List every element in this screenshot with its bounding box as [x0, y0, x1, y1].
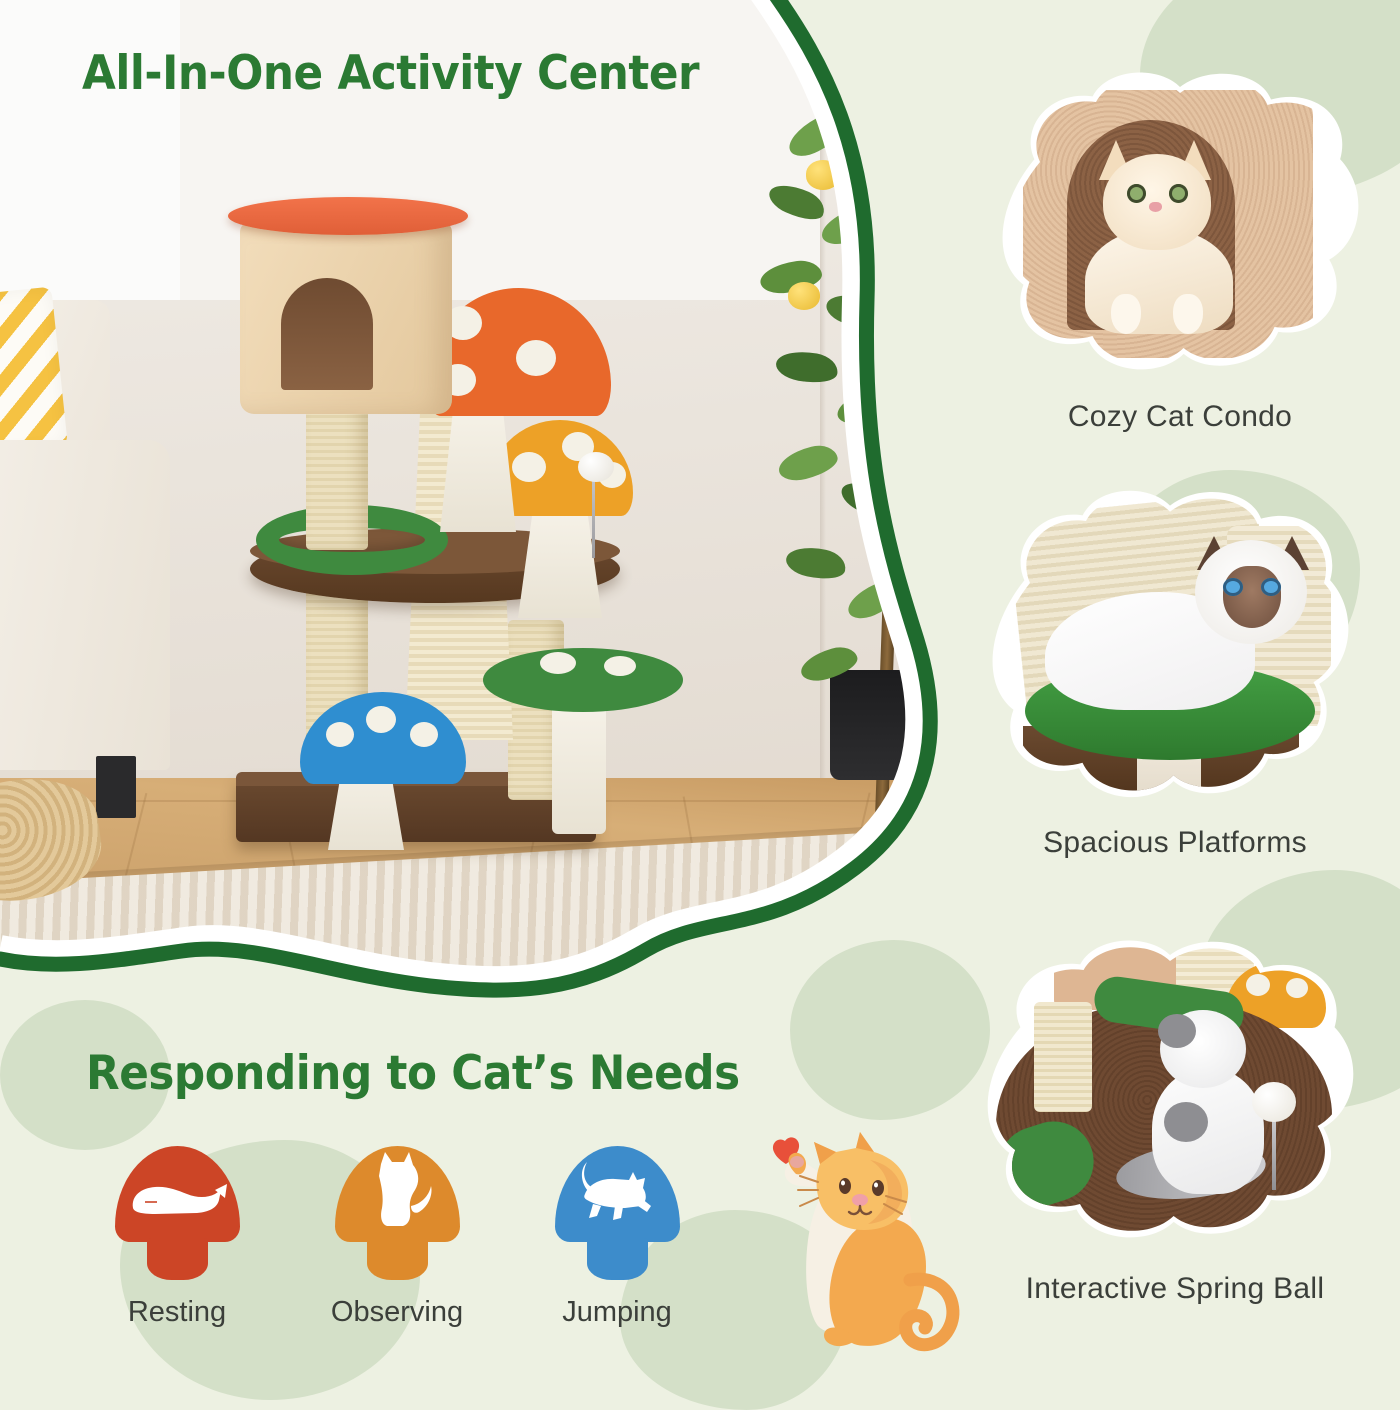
sisal-post-upper	[306, 390, 368, 550]
hero-product-photo	[0, 0, 985, 1010]
spring-ball-toy	[1252, 1082, 1296, 1122]
lemon-fruit	[788, 282, 820, 310]
cat-pouncing-icon	[555, 1146, 680, 1242]
mascot-cartoon-cat	[760, 1130, 970, 1380]
inset-interactive-spring-ball	[990, 940, 1350, 1240]
cat-lying-icon	[115, 1146, 240, 1242]
sofa-arm	[0, 440, 170, 770]
feature-jumping: Jumping	[537, 1146, 697, 1276]
condo-entrance	[281, 278, 373, 390]
mushroom-stem-green	[552, 700, 606, 834]
cat-sitting-icon	[335, 1146, 460, 1242]
feature-resting: Resting	[97, 1146, 257, 1276]
inset-caption-1: Cozy Cat Condo	[1005, 400, 1355, 434]
lemon-fruit	[852, 186, 880, 211]
spring-rod-icon	[1272, 1116, 1276, 1190]
feature-label-jumping: Jumping	[537, 1296, 697, 1329]
lemon-fruit	[806, 160, 840, 190]
page-title: All-In-One Activity Center	[82, 46, 699, 101]
feature-label-resting: Resting	[97, 1296, 257, 1329]
inset-spacious-platforms	[995, 490, 1345, 800]
inset-caption-3: Interactive Spring Ball	[985, 1272, 1365, 1306]
section-title-needs: Responding to Cat’s Needs	[86, 1046, 740, 1101]
inset-cozy-cat-condo	[1005, 72, 1355, 372]
mushroom-cap-green	[483, 648, 683, 712]
spring-ball-toy	[578, 452, 614, 482]
feature-observing: Observing	[317, 1146, 477, 1276]
condo-roof-cushion	[228, 197, 468, 235]
poster-canvas: All-In-One Activity Center Responding to…	[0, 0, 1400, 1400]
ginger-cat	[1077, 144, 1237, 334]
inset-caption-2: Spacious Platforms	[995, 826, 1355, 860]
living-room-scene	[0, 0, 985, 1010]
plant-pot	[830, 670, 916, 780]
ragdoll-cat	[1045, 530, 1315, 710]
feature-label-observing: Observing	[317, 1296, 477, 1329]
lemon-fruit	[866, 452, 896, 479]
